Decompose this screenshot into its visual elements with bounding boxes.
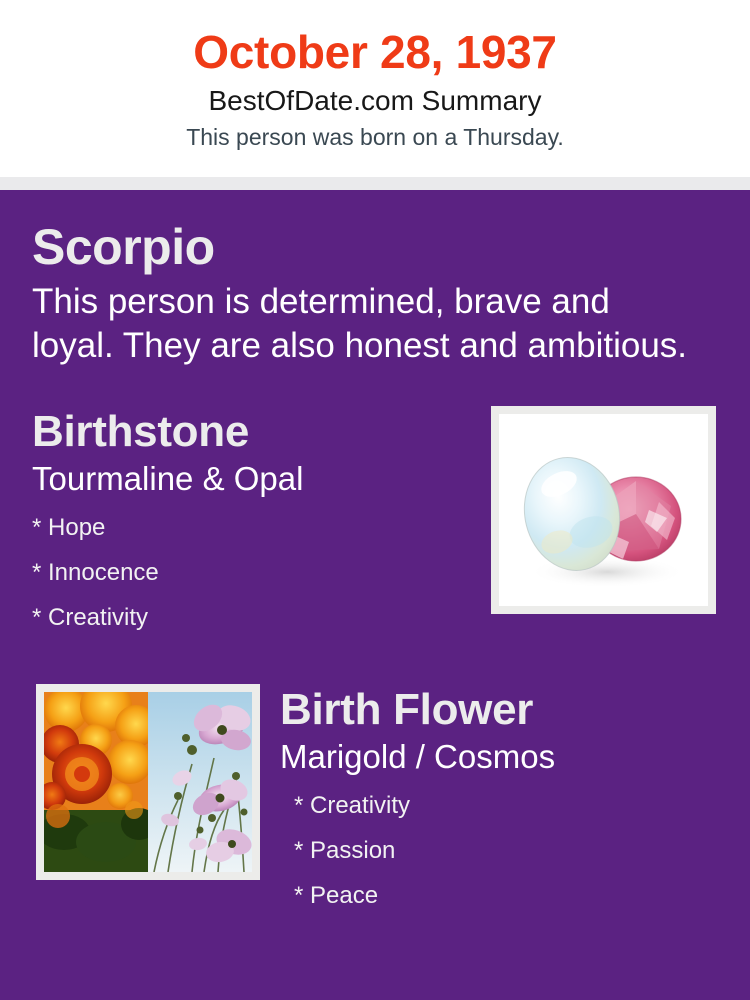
- zodiac-section: Scorpio This person is determined, brave…: [0, 190, 750, 368]
- birthstone-photo: [499, 414, 708, 606]
- zodiac-description: This person is determined, brave and loy…: [32, 280, 697, 368]
- site-summary-label: BestOfDate.com Summary: [0, 82, 750, 120]
- birthstone-image-frame: [491, 406, 716, 614]
- marigold-illustration: [44, 692, 148, 872]
- cosmos-illustration: [148, 692, 252, 872]
- birth-flower-section: Birth Flower Marigold / Cosmos * Creativ…: [0, 684, 750, 918]
- birth-flower-heading: Birth Flower: [280, 684, 734, 736]
- birth-flower-image-frame: [36, 684, 260, 880]
- list-item: * Creativity: [32, 595, 482, 640]
- list-item: * Passion: [280, 828, 734, 873]
- list-item: * Hope: [32, 505, 482, 550]
- birthstone-illustration: [499, 414, 708, 606]
- birthstone-traits-list: * Hope * Innocence * Creativity: [32, 505, 482, 640]
- weekday-note: This person was born on a Thursday.: [0, 121, 750, 153]
- cosmos-half: [148, 692, 252, 872]
- page-title-date: October 28, 1937: [0, 24, 750, 80]
- list-item: * Peace: [280, 873, 734, 918]
- page-header: October 28, 1937 BestOfDate.com Summary …: [0, 0, 750, 177]
- zodiac-sign-name: Scorpio: [32, 218, 720, 276]
- birthstone-names: Tourmaline & Opal: [32, 459, 482, 499]
- list-item: * Innocence: [32, 550, 482, 595]
- header-divider: [0, 177, 750, 190]
- birthstone-text-column: Birthstone Tourmaline & Opal * Hope * In…: [32, 406, 482, 640]
- birth-flower-photo: [44, 692, 252, 872]
- birthstone-section: Birthstone Tourmaline & Opal * Hope * In…: [0, 406, 750, 640]
- birth-flower-traits-list: * Creativity * Passion * Peace: [280, 783, 734, 918]
- birth-flower-names: Marigold / Cosmos: [280, 737, 734, 777]
- birth-flower-text-column: Birth Flower Marigold / Cosmos * Creativ…: [280, 684, 750, 918]
- list-item: * Creativity: [280, 783, 734, 828]
- summary-body: Scorpio This person is determined, brave…: [0, 190, 750, 1000]
- birthstone-heading: Birthstone: [32, 406, 482, 458]
- marigold-half: [44, 692, 148, 872]
